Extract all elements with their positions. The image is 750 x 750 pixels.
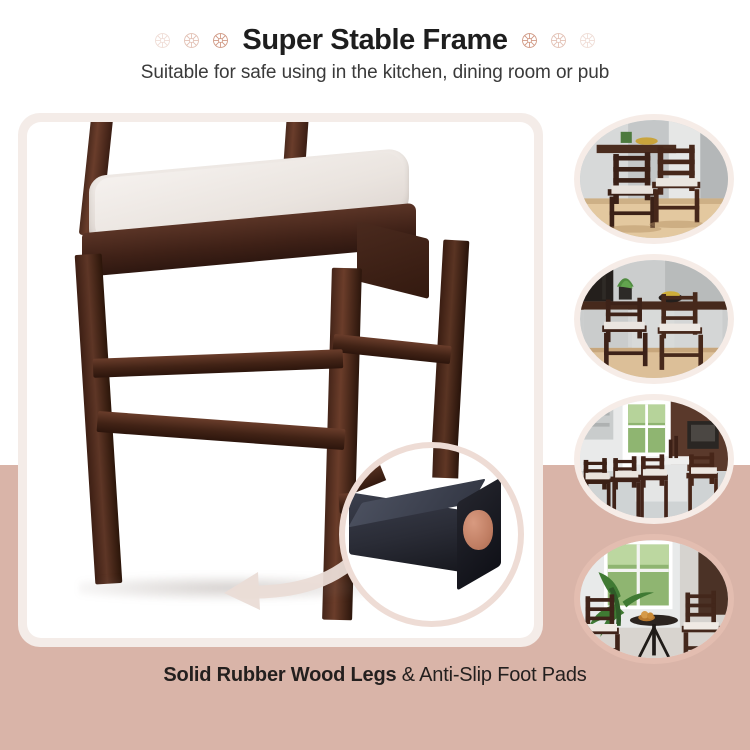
thumb-island-four-stools[interactable] — [574, 394, 734, 524]
header: Super Stable Frame — [0, 0, 750, 110]
anti-slip-foot-pad — [463, 510, 493, 550]
flower-starburst-icon — [579, 32, 596, 49]
stool-seat-frame-side — [357, 221, 429, 299]
caption-bold: Solid Rubber Wood Legs — [163, 664, 396, 686]
page-subtitle: Suitable for safe using in the kitchen, … — [0, 62, 750, 84]
infographic-stage: Super Stable Frame — [0, 0, 750, 750]
anti-slip-foot-pad-magnifier — [339, 442, 524, 627]
caption-regular: & Anti-Slip Foot Pads — [396, 664, 586, 686]
ornaments-right — [521, 32, 596, 49]
flower-starburst-icon — [521, 32, 538, 49]
title-row: Super Stable Frame — [0, 24, 750, 57]
thumb-kitchen-two-stools[interactable] — [574, 114, 734, 244]
ornaments-left — [154, 32, 229, 49]
flower-starburst-icon — [212, 32, 229, 49]
stool-stretcher-upper — [93, 349, 344, 378]
flower-starburst-icon — [183, 32, 200, 49]
thumb-bistro-table[interactable] — [574, 534, 734, 664]
page-title: Super Stable Frame — [242, 24, 507, 57]
flower-starburst-icon — [550, 32, 567, 49]
thumb-counter-pair[interactable] — [574, 254, 734, 384]
thumbnail-gallery — [560, 112, 750, 682]
stool-stretcher-lower — [97, 411, 346, 450]
flower-starburst-icon — [154, 32, 171, 49]
magnifier-leg-top-stub — [432, 442, 460, 478]
